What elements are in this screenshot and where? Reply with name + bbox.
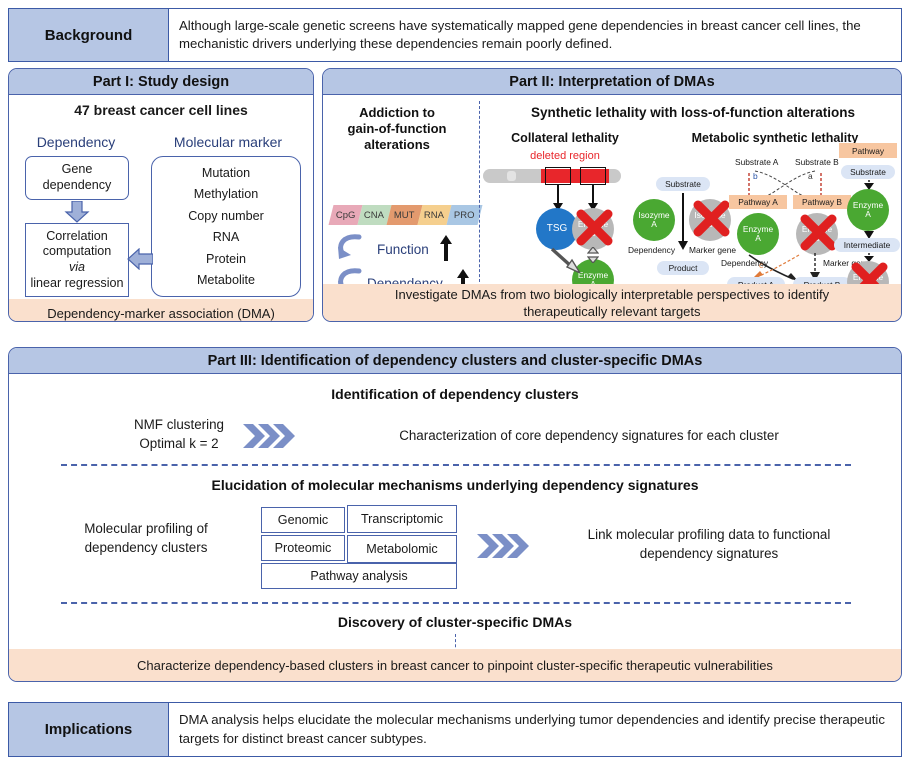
part3-section2-title: Elucidation of molecular mechanisms unde… [9, 477, 901, 493]
profiling-box-transcriptomic[interactable]: Transcriptomic [347, 505, 457, 533]
tsg-label: TSG [547, 224, 568, 234]
profiling-box-genomic[interactable]: Genomic [261, 507, 345, 533]
pathway-enzyme-a-circle: EnzymeA [737, 213, 779, 255]
part3-header: Part III: Identification of dependency c… [9, 348, 901, 374]
enzyme-b-label-collateral: EnzymeB [578, 220, 608, 237]
function-up-arrow-icon [439, 235, 453, 261]
part1-header: Part I: Study design [9, 69, 313, 95]
link-profiling-line1: Link molecular profiling data to functio… [539, 526, 879, 545]
chevron-arrows-1-icon [243, 422, 295, 450]
isozyme-b-circle: IsozymeB [689, 199, 731, 241]
correlation-line1: Correlation [46, 229, 108, 245]
omics-label-cna: CNA [364, 210, 384, 221]
deleted-gene-box-1 [545, 167, 571, 185]
correlation-box: Correlation computation via linear regre… [25, 223, 129, 297]
pathway-enzyme-b-label: EnzymeB [802, 225, 832, 242]
single-enzyme-a-label: EnzymeA [853, 201, 883, 218]
tsg-to-enzymea-arrow-icon [550, 247, 582, 273]
correlation-line3: via [69, 260, 85, 276]
part2-divider [479, 101, 480, 287]
background-text: Although large-scale genetic screens hav… [169, 9, 901, 61]
marker-item-2: Copy number [188, 209, 264, 223]
deleted-region-label: deleted region [509, 150, 621, 162]
part3-divider-1 [61, 464, 851, 466]
part1-body: 47 breast cancer cell lines Dependency M… [9, 102, 313, 322]
down-arrow-icon [64, 201, 90, 223]
profiling-box-proteomic[interactable]: Proteomic [261, 535, 345, 561]
addiction-title-line2: gain-of-function [329, 121, 465, 137]
deleted-gene-box-2 [580, 167, 606, 185]
marker-item-1: Methylation [194, 187, 258, 201]
chevron-arrows-2-icon [477, 532, 529, 560]
pathway-crossover-lines [727, 167, 847, 217]
part1-panel: Part I: Study design 47 breast cancer ce… [8, 68, 314, 322]
isozyme-product-pill: Product [657, 261, 709, 275]
addiction-title: Addiction to gain-of-function alteration… [329, 105, 465, 153]
omics-label-rna: RNA [424, 210, 444, 221]
part2-header: Part II: Interpretation of DMAs [323, 69, 901, 95]
isozyme-b-label: IsozymeB [694, 211, 725, 228]
part1-title: 47 breast cancer cell lines [9, 102, 313, 118]
isozyme-arrow-icon [678, 241, 688, 250]
implications-label: Implications [9, 703, 169, 756]
part3-panel: Part III: Identification of dependency c… [8, 347, 902, 682]
single-pathway-tag: Pathway [839, 143, 897, 158]
background-label: Background [9, 9, 169, 61]
molecular-profiling-line2: dependency clusters [31, 539, 261, 558]
molecular-profiling-text: Molecular profiling of dependency cluste… [31, 520, 261, 557]
gene-dependency-label2: dependency [43, 178, 112, 194]
enzyme-b-circle-collateral: EnzymeB [572, 208, 614, 250]
correlation-line2: computation [43, 244, 112, 260]
part3-summary-bar: Characterize dependency-based clusters i… [9, 649, 901, 682]
left-arrow-icon [127, 248, 153, 270]
synthetic-lethality-title: Synthetic lethality with loss-of-functio… [487, 105, 899, 121]
gene-dependency-label: Gene [62, 162, 93, 178]
profiling-box-metabolomic[interactable]: Metabolomic [347, 535, 457, 563]
part3-section1-right-text: Characterization of core dependency sign… [309, 427, 869, 446]
part3-section1-title: Identification of dependency clusters [9, 386, 901, 402]
substrate-a-label: Substrate A [735, 157, 778, 167]
curved-arrow-function-icon [335, 233, 369, 263]
link-profiling-line2: dependency signatures [539, 545, 879, 564]
part2-summary-line2: therapeutically relevant targets [523, 303, 700, 320]
implications-banner: Implications DMA analysis helps elucidat… [8, 702, 902, 757]
part2-panel: Part II: Interpretation of DMAs Addictio… [322, 68, 902, 322]
figure-root: Background Although large-scale genetic … [0, 0, 910, 765]
enzymeb-enzymea-doublearrow-icon [587, 247, 599, 263]
edge-label-b: b [753, 171, 758, 181]
centromere [507, 171, 516, 181]
pathway-enzyme-a-label: EnzymeA [743, 225, 773, 242]
omics-label-pro: PRO [454, 210, 475, 221]
addiction-title-line1: Addiction to [329, 105, 465, 121]
part2-body: Addiction to gain-of-function alteration… [323, 95, 901, 322]
omics-strip: CpG CNA MUT RNA PRO [331, 205, 480, 225]
pathway-enzyme-b-circle: EnzymeB [796, 213, 838, 255]
part3-section2-right-text: Link molecular profiling data to functio… [539, 526, 879, 563]
part2-summary-line1: Investigate DMAs from two biologically i… [395, 286, 829, 303]
collateral-lethality-title: Collateral lethality [489, 131, 641, 146]
marker-item-3: RNA [213, 230, 240, 244]
isozyme-a-label: IsozymeA [638, 211, 669, 228]
background-banner: Background Although large-scale genetic … [8, 8, 902, 62]
part3-section3-title: Discovery of cluster-specific DMAs [9, 614, 901, 630]
substrate-b-label: Substrate B [795, 157, 839, 167]
isozyme-substrate-pill: Substrate [656, 177, 710, 191]
implications-text: DMA analysis helps elucidate the molecul… [169, 703, 901, 756]
function-label: Function [377, 242, 429, 257]
pathway-a-tag: Pathway A [729, 195, 787, 209]
part2-summary-bar: Investigate DMAs from two biologically i… [323, 284, 901, 322]
single-substrate-pill: Substrate [841, 165, 895, 179]
part1-marker-heading: Molecular marker [149, 134, 307, 150]
part3-body: Identification of dependency clusters NM… [9, 374, 901, 682]
molecular-marker-list: Mutation Methylation Copy number RNA Pro… [151, 156, 301, 297]
intermediate-pill: Intermediate [834, 238, 900, 252]
marker-item-0: Mutation [202, 166, 250, 180]
edge-label-c: c [759, 260, 763, 270]
molecular-profiling-line1: Molecular profiling of [31, 520, 261, 539]
correlation-line4: linear regression [30, 276, 123, 292]
profiling-box-pathway-analysis[interactable]: Pathway analysis [261, 563, 457, 589]
isozyme-a-circle: IsozymeA [633, 199, 675, 241]
pathway-b-tag: Pathway B [793, 195, 851, 209]
isozyme-vertical-line [682, 193, 684, 245]
part1-summary-bar: Dependency-marker association (DMA) [9, 299, 313, 322]
part1-dependency-heading: Dependency [17, 134, 135, 150]
part3-divider-2 [61, 602, 851, 604]
marker-item-4: Protein [206, 252, 246, 266]
single-enzyme-a-circle: EnzymeA [847, 189, 889, 231]
addiction-title-line3: alterations [329, 137, 465, 153]
isozyme-dependency-label: Dependency [628, 245, 675, 255]
omics-label-cpg: CpG [336, 210, 356, 221]
marker-item-5: Metabolite [197, 273, 255, 287]
gene-dependency-box: Gene dependency [25, 156, 129, 200]
edge-label-a: a [808, 171, 813, 181]
omics-seg-pro: PRO [447, 205, 483, 225]
omics-label-mut: MUT [394, 210, 415, 221]
